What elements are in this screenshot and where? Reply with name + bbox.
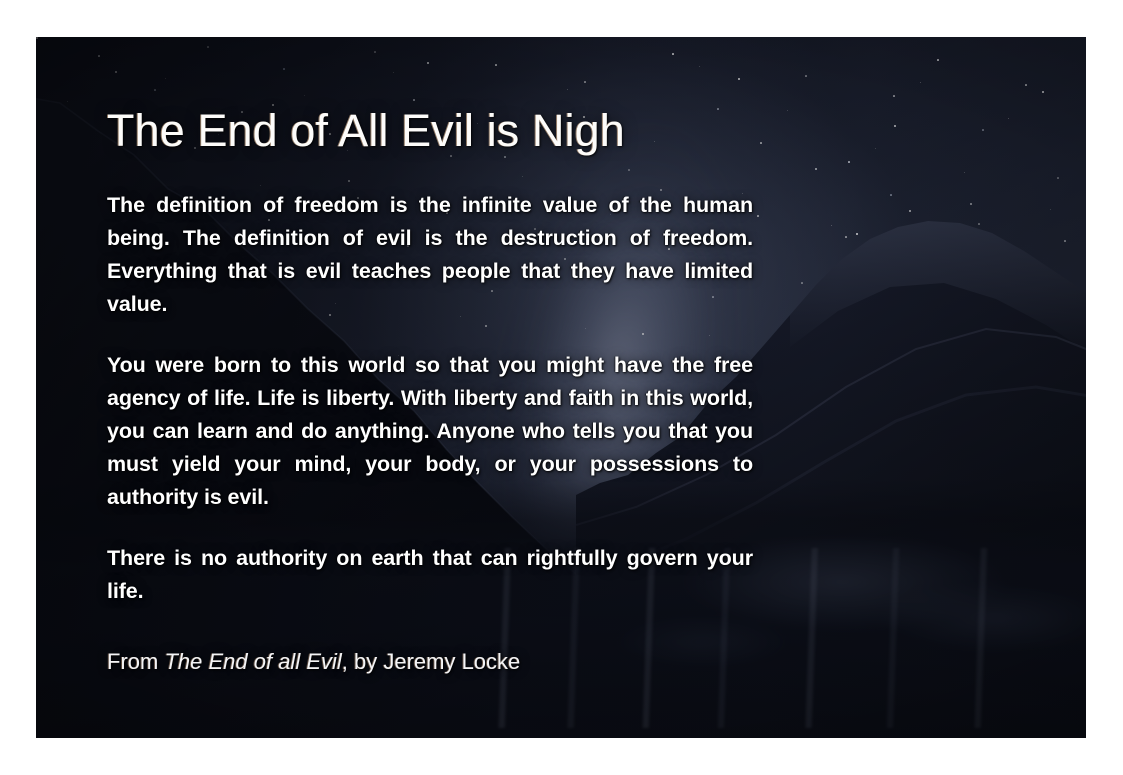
attribution-prefix: From (107, 649, 164, 674)
slide-title: The End of All Evil is Nigh (107, 107, 753, 155)
quote-slide: The End of All Evil is Nigh The definiti… (36, 37, 1086, 738)
slide-content: The End of All Evil is Nigh The definiti… (107, 107, 753, 675)
attribution-work-title: The End of all Evil (164, 649, 341, 674)
page-canvas: The End of All Evil is Nigh The definiti… (0, 0, 1123, 775)
attribution-suffix: , by Jeremy Locke (342, 649, 521, 674)
quote-paragraph-1: The definition of freedom is the infinit… (107, 189, 753, 321)
attribution-line: From The End of all Evil, by Jeremy Lock… (107, 648, 753, 676)
quote-paragraph-2: You were born to this world so that you … (107, 349, 753, 514)
quote-paragraph-3: There is no authority on earth that can … (107, 542, 753, 608)
